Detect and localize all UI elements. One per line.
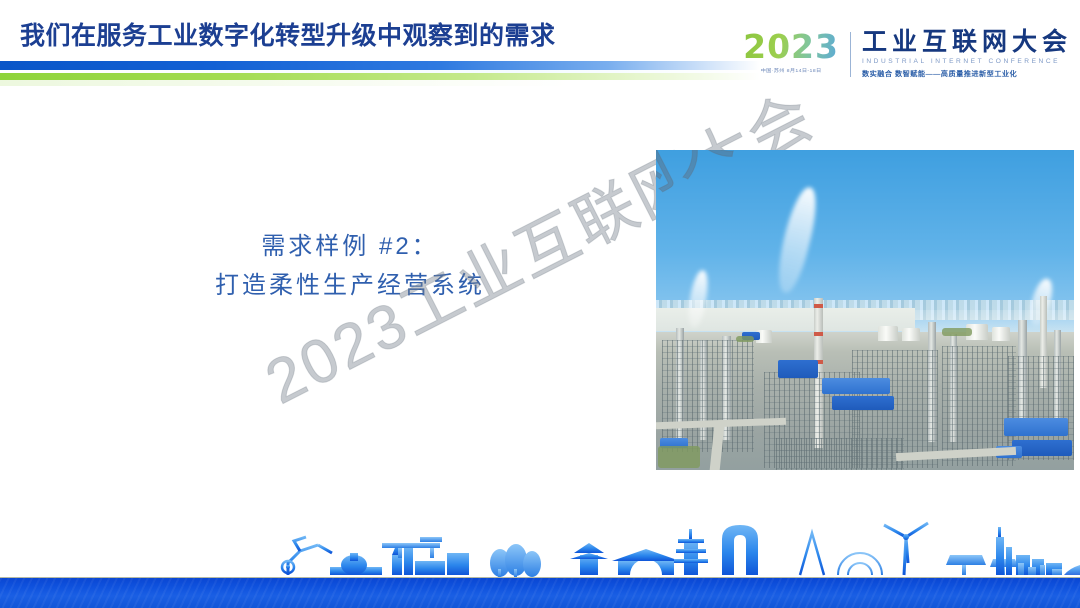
- logo-title-en: INDUSTRIAL INTERNET CONFERENCE: [862, 58, 1072, 65]
- divider-blue-bar: [0, 61, 760, 70]
- blue-roof-building: [832, 396, 894, 410]
- body-line-2: 打造柔性生产经营系统: [140, 267, 560, 306]
- presentation-slide: 我们在服务工业数字化转型升级中观察到的需求 2023 中国·苏州 8月14日-1…: [0, 0, 1080, 608]
- trees-icon: [490, 544, 541, 577]
- header-divider: [0, 61, 760, 85]
- refinery-photo: 网大会: [656, 150, 1074, 470]
- vegetation-patch: [658, 446, 700, 468]
- logo-year-subtext: 中国·苏州 8月14日-18日: [743, 67, 839, 73]
- process-unit: [662, 340, 754, 452]
- stack-band: [814, 332, 823, 336]
- logo-tagline: 数实融合 数智赋能——高质量推进新型工业化: [862, 69, 1072, 79]
- chinese-pavilion-icon: [570, 543, 608, 575]
- vegetation-patch: [942, 328, 972, 336]
- page-title: 我们在服务工业数字化转型升级中观察到的需求: [20, 16, 556, 52]
- footer-decoration: [0, 516, 1080, 608]
- footer-blue-band: [0, 578, 1080, 608]
- city-skyline-illustration: [0, 517, 1080, 579]
- pagoda-icon: [674, 529, 708, 575]
- wind-turbine-icon: [884, 523, 928, 575]
- long-bridge-icon: [1064, 565, 1080, 575]
- pipeline-valve-icon: [330, 553, 382, 575]
- storage-tank: [878, 326, 898, 341]
- eiffel-tower-icon: [800, 525, 824, 575]
- blue-roof-building: [1004, 418, 1068, 436]
- radar-dome-icon: [838, 553, 882, 575]
- logo-year-block: 2023 中国·苏州 8月14日-18日: [743, 30, 850, 74]
- divider-fade: [0, 80, 760, 86]
- logo-title-cn: 工业互联网大会: [862, 30, 1072, 55]
- vegetation-patch: [736, 336, 754, 342]
- blue-roof-building: [778, 360, 818, 378]
- divider-green-bar: [0, 73, 760, 80]
- arch-bridge-icon: [612, 549, 680, 575]
- logo-year-text: 2023: [743, 30, 839, 63]
- conference-logo: 2023 中国·苏州 8月14日-18日 工业互联网大会 INDUSTRIAL …: [743, 30, 1072, 79]
- process-unit: [776, 438, 904, 470]
- blue-roof-building: [822, 378, 890, 394]
- stack-band: [814, 304, 823, 308]
- storage-tank: [992, 327, 1010, 341]
- slide-body-text: 需求样例 #2： 打造柔性生产经营系统: [140, 228, 560, 306]
- logo-title-block: 工业互联网大会 INDUSTRIAL INTERNET CONFERENCE 数…: [851, 30, 1072, 79]
- storage-tank: [902, 328, 920, 341]
- gate-of-the-orient-icon: [722, 525, 758, 575]
- body-line-1: 需求样例 #2：: [140, 228, 560, 267]
